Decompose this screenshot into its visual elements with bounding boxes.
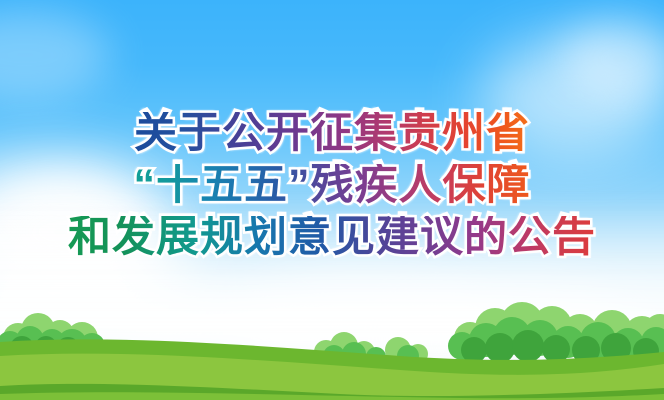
title-line-3: 和发展规划意见建议的公告 和发展规划意见建议的公告 [0,216,664,259]
title-line-2-text: “十五五”残疾人保障 [134,164,531,207]
title-line-1: 关于公开征集贵州省 关于公开征集贵州省 [0,112,664,155]
title-line-1-text: 关于公开征集贵州省 [134,112,530,155]
title-line-3-text: 和发展规划意见建议的公告 [68,216,596,259]
title-line-2: “十五五”残疾人保障 “十五五”残疾人保障 [0,164,664,207]
ground-scene [0,290,664,400]
banner-title: 关于公开征集贵州省 关于公开征集贵州省 “十五五”残疾人保障 “十五五”残疾人保… [0,112,664,259]
announcement-banner: 关于公开征集贵州省 关于公开征集贵州省 “十五五”残疾人保障 “十五五”残疾人保… [0,0,664,400]
